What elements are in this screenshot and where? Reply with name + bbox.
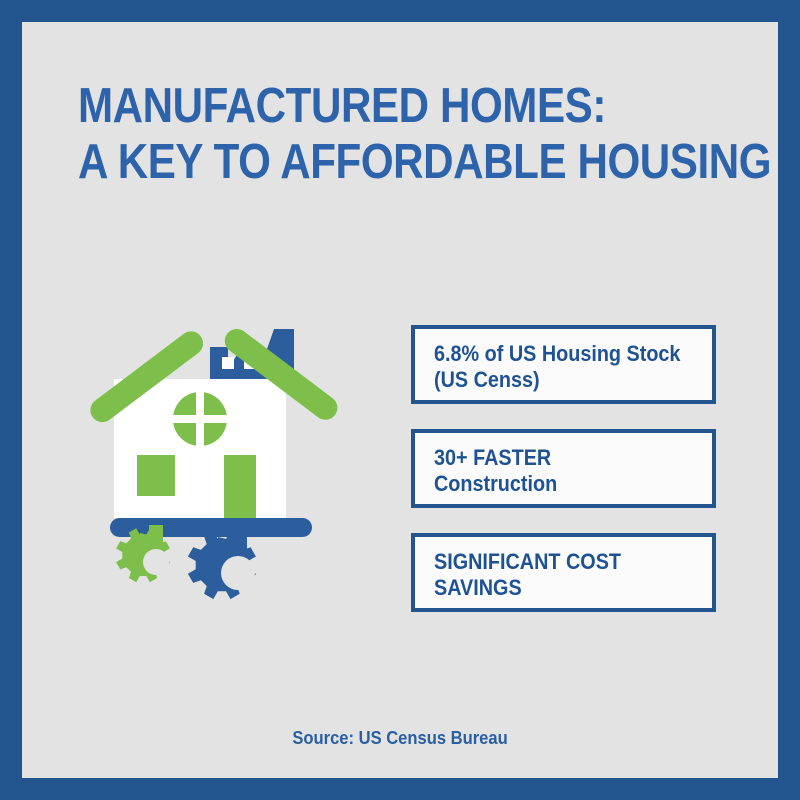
fact-cost-savings-line-2: SAVINGS: [434, 575, 684, 601]
fact-box-faster-construction[interactable]: 30+ FASTER Construction: [411, 429, 716, 508]
fact-faster-construction-line-1: 30+ FASTER: [434, 445, 684, 471]
poster-canvas: MANUFACTURED HOMES: A KEY TO AFFORDABLE …: [22, 22, 778, 778]
fact-cost-savings-line-1: SIGNIFICANT COST: [434, 549, 684, 575]
source-text: Source: US Census Bureau: [292, 728, 507, 749]
house-door: [224, 455, 256, 518]
source-attribution: Source: US Census Bureau: [22, 728, 778, 749]
fact-housing-stock-line-2: (US Censs): [434, 367, 684, 393]
fact-box-cost-savings[interactable]: SIGNIFICANT COST SAVINGS: [411, 533, 716, 612]
title-line-1: MANUFACTURED HOMES:: [78, 78, 663, 134]
round-window-icon: [173, 392, 227, 446]
fact-faster-construction-line-2: Construction: [434, 471, 684, 497]
fact-box-housing-stock[interactable]: 6.8% of US Housing Stock (US Censs): [411, 325, 716, 404]
facts-list: 6.8% of US Housing Stock (US Censs) 30+ …: [411, 325, 716, 637]
manufactured-home-illustration: [82, 297, 382, 627]
square-window: [137, 455, 175, 496]
page-title: MANUFACTURED HOMES: A KEY TO AFFORDABLE …: [78, 78, 758, 190]
fact-housing-stock-line-1: 6.8% of US Housing Stock: [434, 341, 684, 367]
title-line-2: A KEY TO AFFORDABLE HOUSING: [78, 134, 663, 190]
infographic-poster: MANUFACTURED HOMES: A KEY TO AFFORDABLE …: [0, 0, 800, 800]
